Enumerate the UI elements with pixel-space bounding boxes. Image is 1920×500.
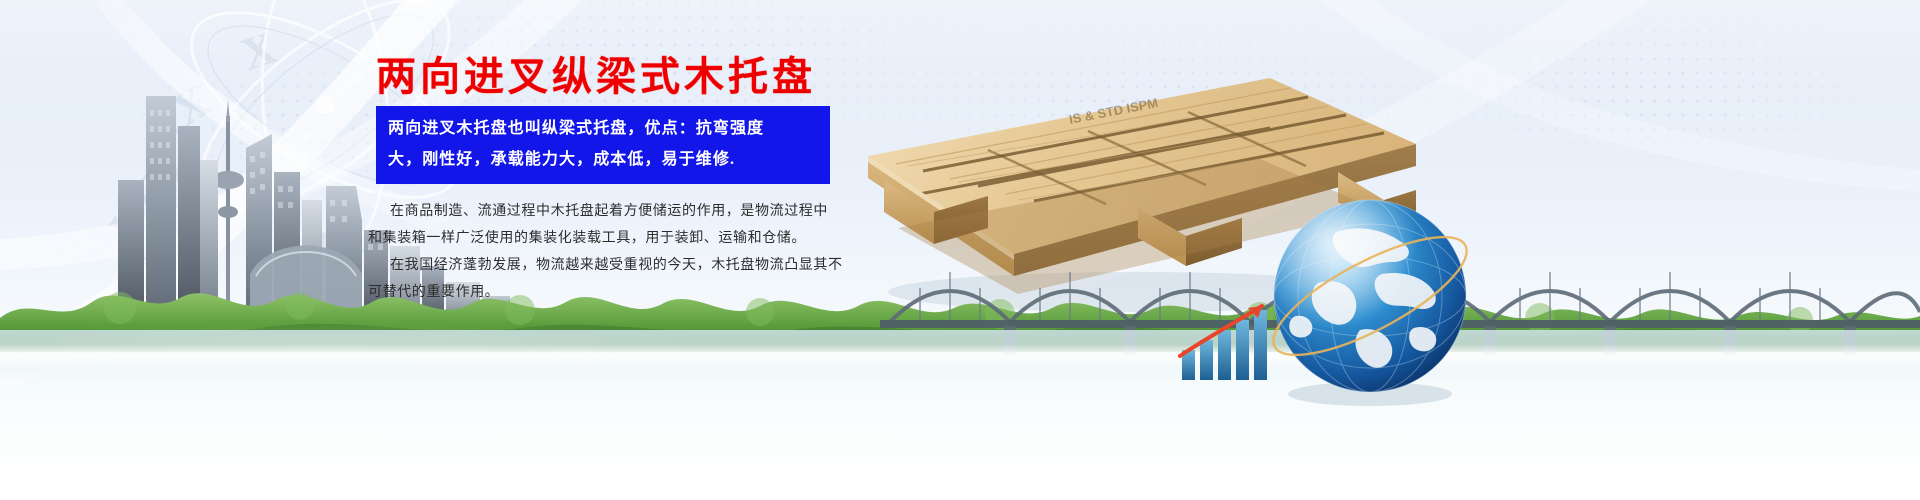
description-paragraph-2-line-2: 可替代的重要作用。 <box>368 279 846 306</box>
description-text: 在商品制造、流通过程中木托盘起着方便储运的作用，是物流过程中 和集装箱一样广泛使… <box>368 198 846 306</box>
description-paragraph-2-line-1: 在我国经济蓬勃发展，物流越来越受重视的今天，木托盘物流凸显其不 <box>368 252 846 279</box>
product-banner: X IX VIII VII VI <box>0 0 1920 500</box>
highlight-line-2: 大，刚性好，承载能力大，成本低，易于维修. <box>388 144 820 175</box>
banner-text-content: 两向进叉纵梁式木托盘 两向进叉木托盘也叫纵梁式托盘，优点：抗弯强度 大，刚性好，… <box>0 0 1920 500</box>
highlight-callout-box: 两向进叉木托盘也叫纵梁式托盘，优点：抗弯强度 大，刚性好，承载能力大，成本低，易… <box>376 106 830 184</box>
page-title: 两向进叉纵梁式木托盘 <box>376 54 816 100</box>
description-paragraph-1-line-1: 在商品制造、流通过程中木托盘起着方便储运的作用，是物流过程中 <box>368 198 846 225</box>
description-paragraph-1-line-2: 和集装箱一样广泛使用的集装化装载工具，用于装卸、运输和仓储。 <box>368 225 846 252</box>
highlight-line-1: 两向进叉木托盘也叫纵梁式托盘，优点：抗弯强度 <box>388 113 820 144</box>
